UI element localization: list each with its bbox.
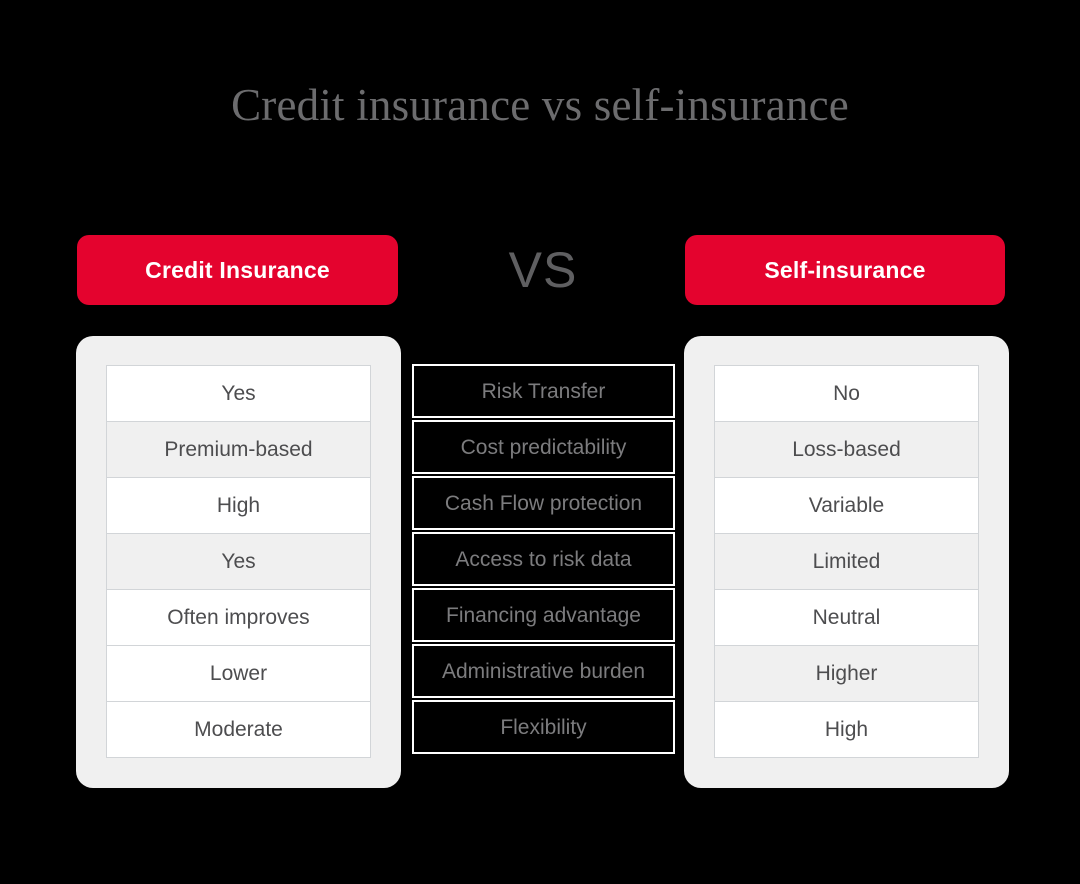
self-insurance-value-cell: Neutral (715, 590, 978, 646)
feature-label-cell: Administrative burden (412, 644, 675, 698)
self-insurance-value-cell: Loss-based (715, 422, 978, 478)
self-insurance-card: NoLoss-basedVariableLimitedNeutralHigher… (684, 336, 1009, 788)
vs-separator-label: VS (402, 236, 684, 304)
credit-insurance-value-cell: Yes (107, 534, 370, 590)
self-insurance-value-cell: Higher (715, 646, 978, 702)
credit-insurance-value-cell: Often improves (107, 590, 370, 646)
feature-label-cell: Financing advantage (412, 588, 675, 642)
self-insurance-value-cell: No (715, 366, 978, 422)
feature-label-cell: Cash Flow protection (412, 476, 675, 530)
self-insurance-value-cell: High (715, 702, 978, 758)
self-insurance-value-cell: Variable (715, 478, 978, 534)
credit-insurance-value-cell: Moderate (107, 702, 370, 758)
feature-label-cell: Access to risk data (412, 532, 675, 586)
feature-label-cell: Cost predictability (412, 420, 675, 474)
credit-insurance-value-cell: Premium-based (107, 422, 370, 478)
credit-insurance-header-label: Credit Insurance (145, 257, 330, 284)
credit-insurance-value-cell: High (107, 478, 370, 534)
comparison-slide: Credit insurance vs self-insurance Credi… (0, 0, 1080, 884)
self-insurance-header-label: Self-insurance (764, 257, 925, 284)
credit-insurance-value-cell: Yes (107, 366, 370, 422)
feature-label-cell: Risk Transfer (412, 364, 675, 418)
feature-label-column: Risk TransferCost predictabilityCash Flo… (412, 364, 675, 754)
self-insurance-value-cell: Limited (715, 534, 978, 590)
credit-insurance-value-cell: Lower (107, 646, 370, 702)
credit-insurance-header-button[interactable]: Credit Insurance (77, 235, 398, 305)
self-insurance-value-table: NoLoss-basedVariableLimitedNeutralHigher… (714, 365, 979, 758)
credit-insurance-card: YesPremium-basedHighYesOften improvesLow… (76, 336, 401, 788)
page-title: Credit insurance vs self-insurance (0, 74, 1080, 136)
credit-insurance-value-table: YesPremium-basedHighYesOften improvesLow… (106, 365, 371, 758)
self-insurance-header-button[interactable]: Self-insurance (685, 235, 1005, 305)
feature-label-cell: Flexibility (412, 700, 675, 754)
